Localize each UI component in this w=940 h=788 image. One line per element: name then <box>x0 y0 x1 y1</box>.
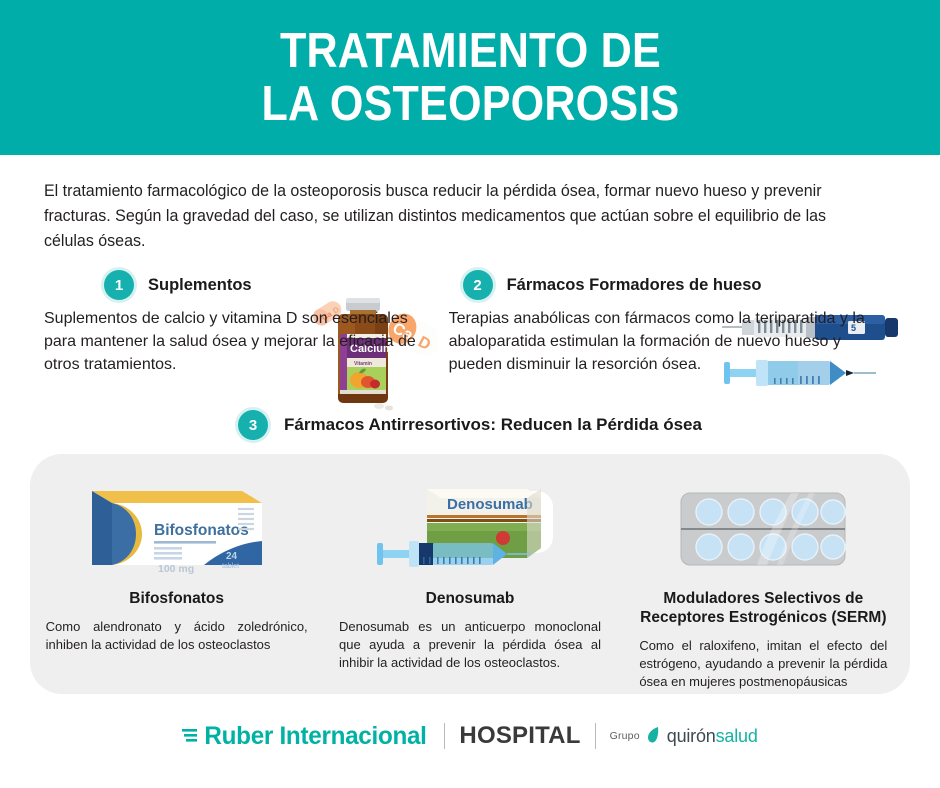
denosumab-brand-label: Denosumab <box>447 496 533 513</box>
section-1-body: Suplementos de calcio y vitamina D son e… <box>44 308 431 376</box>
denosumab-box-icon: Denosumab <box>375 475 565 583</box>
medicine-box-dose-label: 100 mg <box>158 563 194 575</box>
page-title-line-1: TRATAMIENTO DE <box>280 24 661 78</box>
card-serm-title: Moduladores Selectivos de Receptores Est… <box>640 590 886 628</box>
logo-ruber-internacional: Ruber Internacional <box>182 722 430 751</box>
logo-ruber-text: Ruber Internacional <box>205 722 427 751</box>
card-serm-art <box>631 470 896 588</box>
medicine-box-icon: Bifosfonatos 100 mg 24 tablet <box>86 479 268 579</box>
logo-quiron-text: quirónsalud <box>667 726 758 747</box>
footer-divider-1 <box>444 723 445 749</box>
section-1-number-badge: 1 <box>104 270 134 300</box>
card-serm-title-line-2: Receptores Estrogénicos (SERM) <box>640 609 886 626</box>
section-2-number-badge: 2 <box>463 270 493 300</box>
section-3-title: Fármacos Antirresortivos: Reducen la Pér… <box>284 415 702 435</box>
denosumab-red-dot <box>496 531 510 545</box>
ruber-speedlines-icon <box>182 724 198 748</box>
medicine-box-unit-label: tablet <box>222 563 239 570</box>
footer-logos: Ruber Internacional HOSPITAL Grupo quiró… <box>0 716 940 756</box>
section-3-number-badge: 3 <box>238 410 268 440</box>
pill-blister-pack-icon <box>673 483 853 575</box>
logo-hospital-text: HOSPITAL <box>459 722 580 750</box>
intro-paragraph: El tratamiento farmacológico de la osteo… <box>44 179 870 254</box>
card-serm-title-line-1: Moduladores Selectivos de <box>663 590 863 607</box>
section-2-body: Terapias anabólicas con fármacos como la… <box>449 308 896 376</box>
card-denosumab-title: Denosumab <box>426 590 515 609</box>
sections-row: 1 Suplementos Suplementos de calcio y vi… <box>44 268 896 376</box>
medicine-box-count-label: 24 <box>226 551 238 562</box>
card-denosumab-art: Denosumab <box>337 470 602 588</box>
logo-grupo-label: Grupo <box>610 730 640 742</box>
section-1-title: Suplementos <box>148 276 252 295</box>
page-header: TRATAMIENTO DE LA OSTEOPOROSIS <box>0 0 940 155</box>
antiresorptive-cards-panel: Bifosfonatos 100 mg 24 tablet Bifosfonat… <box>30 454 910 694</box>
card-denosumab: Denosumab <box>323 470 616 694</box>
card-bifosfonatos-text: Como alendronato y ácido zoledrónico, in… <box>46 618 308 653</box>
card-bifosfonatos: Bifosfonatos 100 mg 24 tablet Bifosfonat… <box>30 470 323 694</box>
section-formadores-de-hueso: 2 Fármacos Formadores de hueso Terapias … <box>449 268 896 376</box>
page-title-line-2: LA OSTEOPOROSIS <box>261 77 679 131</box>
logo-quironsalud: Grupo quirónsalud <box>610 726 758 747</box>
footer-divider-2 <box>595 723 596 749</box>
section-2-header: 2 Fármacos Formadores de hueso <box>463 268 896 302</box>
card-serm-text: Como el raloxifeno, imitan el efecto del… <box>639 637 887 690</box>
medicine-box-brand-label: Bifosfonatos <box>154 522 249 539</box>
page-title: TRATAMIENTO DE LA OSTEOPOROSIS <box>261 25 679 131</box>
section-2-title: Fármacos Formadores de hueso <box>507 276 762 295</box>
card-bifosfonatos-art: Bifosfonatos 100 mg 24 tablet <box>44 470 309 588</box>
card-denosumab-text: Denosumab es un anticuerpo monoclonal qu… <box>339 618 601 671</box>
logo-quiron-part2: salud <box>716 726 758 746</box>
section-suplementos: 1 Suplementos Suplementos de calcio y vi… <box>44 268 431 376</box>
section-3-header: 3 Fármacos Antirresortivos: Reducen la P… <box>0 410 940 440</box>
quironsalud-leaf-icon <box>647 726 660 746</box>
card-bifosfonatos-title: Bifosfonatos <box>129 590 224 609</box>
card-serm: Moduladores Selectivos de Receptores Est… <box>617 470 910 694</box>
logo-quiron-part1: quirón <box>667 726 716 746</box>
